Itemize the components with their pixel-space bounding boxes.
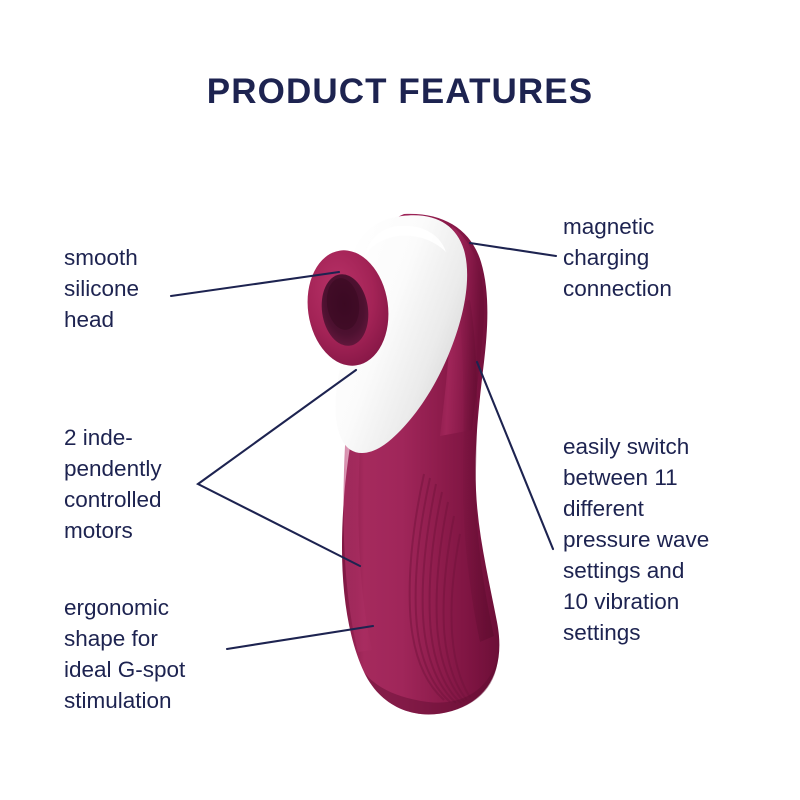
leader-settings	[477, 362, 553, 549]
callout-independently-controlled-motors: 2 inde- pendently controlled motors	[64, 422, 259, 546]
device-graphic	[300, 214, 499, 715]
callout-pressure-wave-settings: easily switch between 11 different press…	[563, 431, 795, 648]
leader-magnetic	[470, 243, 556, 256]
product-features-diagram: PRODUCT FEATURES	[0, 0, 800, 800]
callout-ergonomic-shape: ergonomic shape for ideal G-spot stimula…	[64, 592, 274, 716]
callout-magnetic-charging-connection: magnetic charging connection	[563, 211, 788, 304]
callout-smooth-silicone-head: smooth silicone head	[64, 242, 254, 335]
